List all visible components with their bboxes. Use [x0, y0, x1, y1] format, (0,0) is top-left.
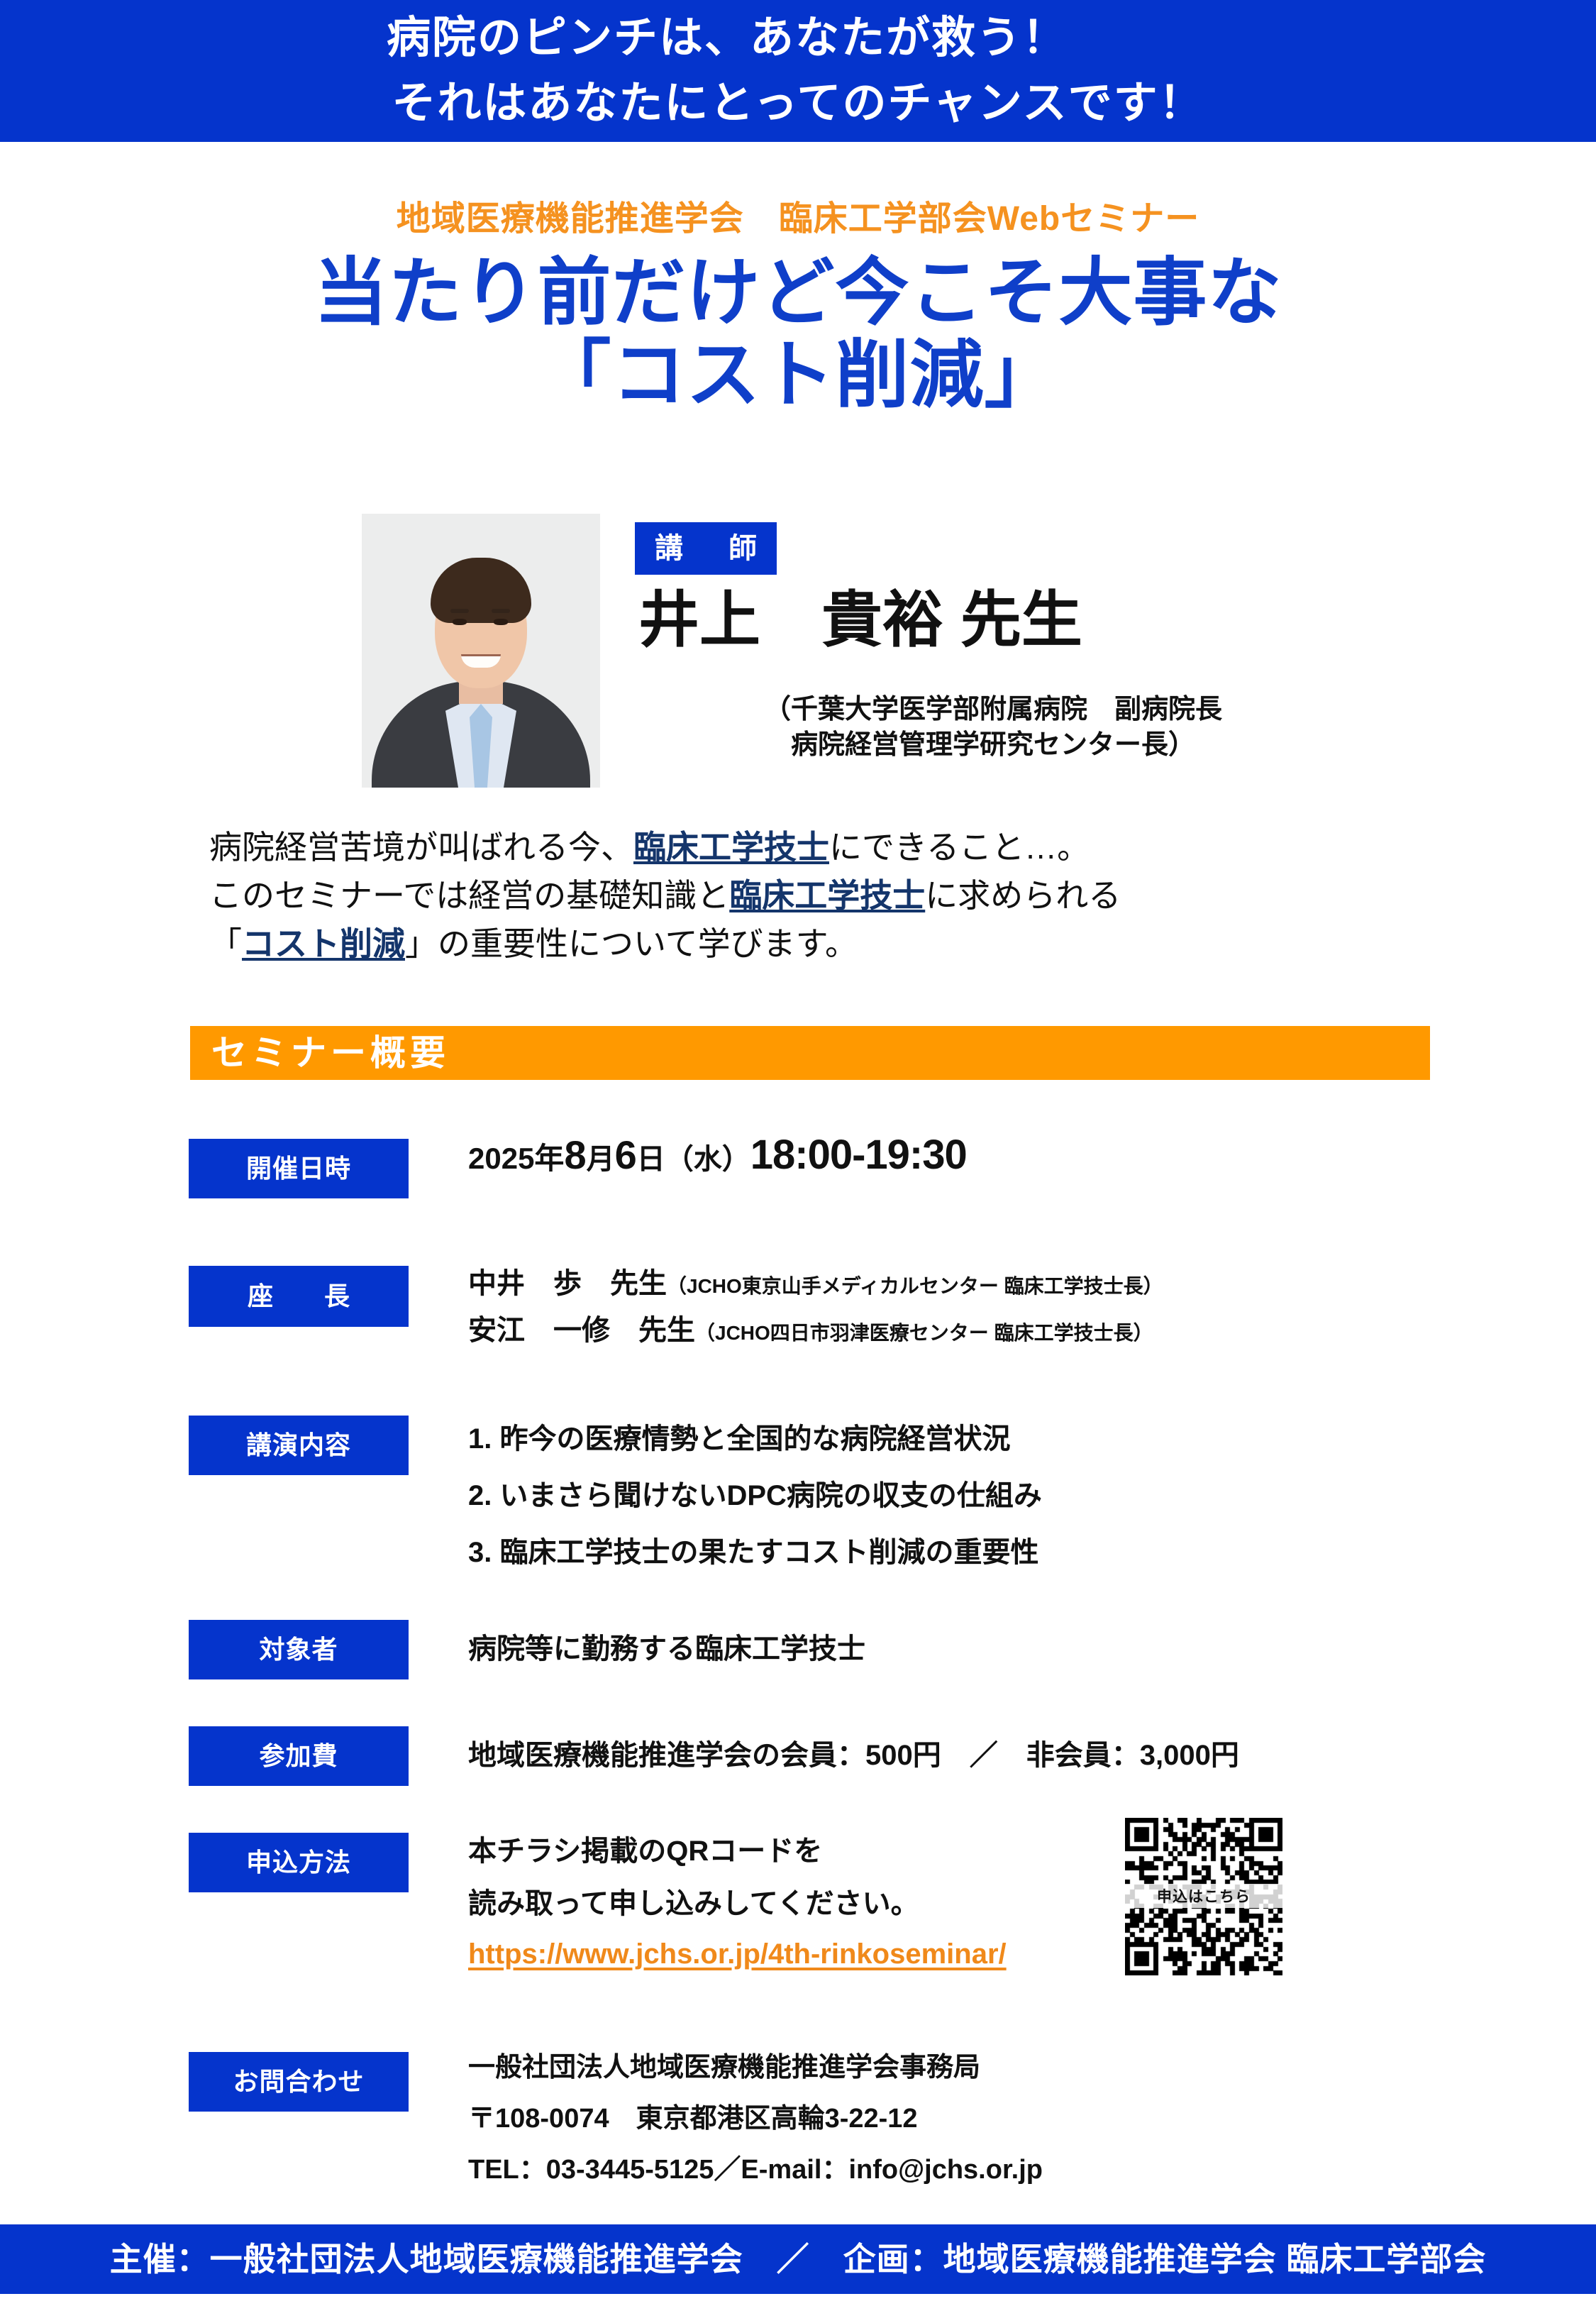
date-day-unit: 日: [637, 1144, 665, 1175]
row-value-fee: 地域医療機能推進学会の会員：500円 ／ 非会員：3,000円: [468, 1736, 1239, 1775]
description-text: 」の重要性について学びます。: [405, 925, 858, 962]
row-value-audience: 病院等に勤務する臨床工学技士: [468, 1629, 865, 1669]
row-label-contents: 講演内容: [189, 1416, 409, 1475]
description-text: にできること…。: [829, 829, 1090, 866]
title-line-2: 「コスト削減」: [0, 334, 1596, 416]
description-line-3: 「コスト削減」の重要性について学びます。: [209, 920, 1486, 968]
description-text: このセミナーでは経営の基礎知識と: [209, 877, 729, 914]
apply-instruction-line-1: 本チラシ掲載のQRコードを: [468, 1825, 1007, 1877]
row-value-contact: 一般社団法人地域医療機能推進学会事務局 〒108-0074 東京都港区高輪3-2…: [468, 2042, 1043, 2195]
description-line-1: 病院経営苦境が叫ばれる今、臨床工学技士にできること…。: [209, 823, 1486, 871]
contact-address: 〒108-0074 東京都港区高輪3-22-12: [468, 2093, 1043, 2144]
photo-eyebrow-right: [492, 609, 510, 613]
page-title: 当たり前だけど今こそ大事な 「コスト削減」: [0, 252, 1596, 416]
row-label-fee: 参加費: [189, 1726, 409, 1786]
date-year: 2025年: [468, 1142, 564, 1175]
row-value-contents: 1. 昨今の医療情勢と全国的な病院経営状況 2. いまさら聞けないDPC病院の収…: [468, 1411, 1042, 1581]
date-time-range: 18:00-19:30: [750, 1132, 967, 1178]
description-highlight: 臨床工学技士: [633, 829, 829, 866]
banner-line-2: それはあなたにとってのチャンスです！: [0, 71, 1596, 136]
lecture-topic-item: 1. 昨今の医療情勢と全国的な病院経営状況: [468, 1411, 1042, 1467]
photo-eye-right: [494, 619, 508, 625]
description-line-2: このセミナーでは経営の基礎知識と臨床工学技士に求められる: [209, 871, 1486, 920]
event-subtitle: 地域医療機能推進学会 臨床工学部会Webセミナー: [0, 190, 1596, 240]
description-text: 「: [209, 925, 242, 962]
chair-person-1: 中井 歩 先生（JCHO東京山手メディカルセンター 臨床工学技士長）: [468, 1262, 1163, 1308]
top-banner: 病院のピンチは、あなたが救う！ それはあなたにとってのチャンスです！: [0, 0, 1596, 142]
section-header-overview: セミナー概要: [190, 1026, 1430, 1080]
lecturer-affiliation-line-1: （千葉大学医学部附属病院 副病院長: [610, 692, 1376, 727]
date-day-number: 6: [615, 1132, 637, 1177]
contact-organization: 一般社団法人地域医療機能推進学会事務局: [468, 2042, 1043, 2093]
footer-organizers: 主催：一般社団法人地域医療機能推進学会 ／ 企画：地域医療機能推進学会 臨床工学…: [0, 2224, 1596, 2294]
lecturer-name: 井上 貴裕 先生: [638, 582, 1348, 658]
date-weekday: （水）: [665, 1144, 750, 1175]
lecturer-badge: 講 師: [635, 522, 777, 575]
description-highlight: コスト削減: [242, 925, 405, 962]
photo-eyebrow-left: [450, 609, 469, 613]
row-value-apply: 本チラシ掲載のQRコードを 読み取って申し込みしてください。 https://w…: [468, 1825, 1007, 1975]
title-line-1: 当たり前だけど今こそ大事な: [0, 252, 1596, 334]
speaker-portrait-photo: [362, 514, 600, 788]
photo-eye-left: [453, 619, 467, 625]
lecturer-affiliation-line-2: 病院経営管理学研究センター長）: [610, 727, 1376, 763]
apply-url-link[interactable]: https://www.jchs.or.jp/4th-rinkoseminar/: [468, 1938, 1007, 1970]
date-value: 2025年8月6日（水）18:00-19:30: [468, 1145, 967, 1175]
row-value-date: 2025年8月6日（水）18:00-19:30: [468, 1135, 967, 1180]
date-month-unit: 月: [587, 1144, 615, 1175]
chair-person-2: 安江 一修 先生（JCHO四日市羽津医療センター 臨床工学技士長）: [468, 1308, 1163, 1355]
chair-person-1-name: 中井 歩 先生: [468, 1268, 667, 1299]
row-label-contact: お問合わせ: [189, 2052, 409, 2112]
chair-person-2-affiliation: （JCHO四日市羽津医療センター 臨床工学技士長）: [695, 1322, 1153, 1344]
description-text: 病院経営苦境が叫ばれる今、: [209, 829, 633, 866]
apply-instruction-line-2: 読み取って申し込みしてください。: [468, 1877, 1007, 1930]
chair-person-1-affiliation: （JCHO東京山手メディカルセンター 臨床工学技士長）: [667, 1275, 1163, 1297]
row-label-apply: 申込方法: [189, 1833, 409, 1892]
banner-line-1: 病院のピンチは、あなたが救う！: [0, 6, 1454, 71]
description-text: に求められる: [925, 877, 1121, 914]
seminar-description: 病院経営苦境が叫ばれる今、臨床工学技士にできること…。 このセミナーでは経営の基…: [209, 823, 1486, 968]
row-value-chair: 中井 歩 先生（JCHO東京山手メディカルセンター 臨床工学技士長） 安江 一修…: [468, 1262, 1163, 1355]
lecturer-affiliation: （千葉大学医学部附属病院 副病院長 病院経営管理学研究センター長）: [610, 692, 1376, 763]
lecture-topic-item: 2. いまさら聞けないDPC病院の収支の仕組み: [468, 1467, 1042, 1524]
chair-person-2-name: 安江 一修 先生: [468, 1315, 695, 1346]
row-label-date: 開催日時: [189, 1139, 409, 1198]
qr-code-label: 申込はこちら: [1125, 1884, 1282, 1908]
contact-tel-email: TEL：03-3445-5125／E-mail：info@jchs.or.jp: [468, 2144, 1043, 2195]
description-highlight: 臨床工学技士: [729, 877, 925, 914]
lecture-topic-item: 3. 臨床工学技士の果たすコスト削減の重要性: [468, 1524, 1042, 1581]
row-label-chair: 座 長: [189, 1266, 409, 1327]
date-month-number: 8: [564, 1132, 586, 1177]
row-label-audience: 対象者: [189, 1620, 409, 1679]
